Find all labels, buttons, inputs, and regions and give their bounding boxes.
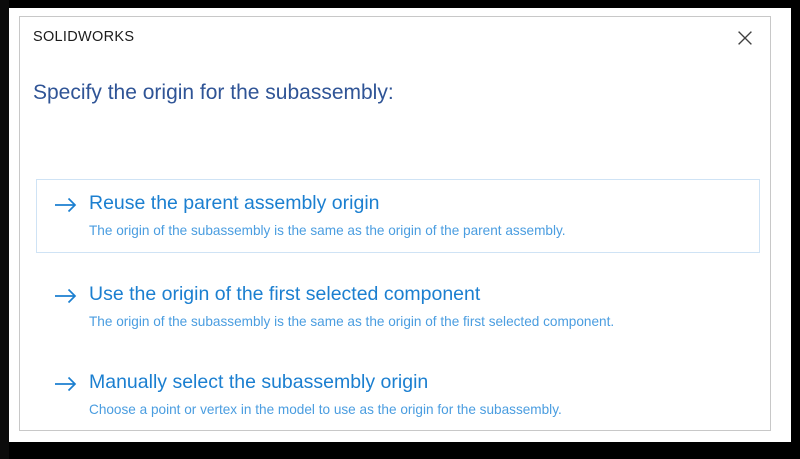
list-spacer	[20, 253, 770, 270]
list-spacer	[20, 344, 770, 358]
command-link-title: Reuse the parent assembly origin	[89, 191, 380, 215]
close-button[interactable]	[728, 23, 762, 53]
command-link-description: The origin of the subassembly is the sam…	[89, 312, 729, 331]
screenshot-canvas: SOLIDWORKS Specify the origin for the su…	[0, 0, 800, 459]
command-link-reuse-parent-origin[interactable]: Reuse the parent assembly origin The ori…	[36, 179, 760, 253]
dialog-title: SOLIDWORKS	[33, 29, 134, 45]
command-link-title: Use the origin of the first selected com…	[89, 282, 480, 306]
command-link-header: Reuse the parent assembly origin	[53, 191, 745, 218]
dialog-titlebar: SOLIDWORKS	[20, 17, 770, 61]
command-link-manual-origin[interactable]: Manually select the subassembly origin C…	[36, 358, 760, 432]
command-link-title: Manually select the subassembly origin	[89, 370, 428, 394]
command-link-description: Choose a point or vertex in the model to…	[89, 400, 729, 419]
command-link-description: The origin of the subassembly is the sam…	[89, 221, 729, 240]
command-link-first-selected-component[interactable]: Use the origin of the first selected com…	[36, 270, 760, 344]
command-link-header: Manually select the subassembly origin	[53, 370, 745, 397]
command-link-list: Reuse the parent assembly origin The ori…	[20, 179, 770, 432]
arrow-right-icon	[53, 283, 79, 309]
solidworks-task-dialog: SOLIDWORKS Specify the origin for the su…	[19, 16, 771, 431]
main-instruction: Specify the origin for the subassembly:	[33, 81, 394, 105]
close-icon	[737, 30, 753, 46]
arrow-right-icon	[53, 192, 79, 218]
arrow-right-icon	[53, 371, 79, 397]
command-link-header: Use the origin of the first selected com…	[53, 282, 745, 309]
left-matte-strip	[0, 0, 9, 459]
